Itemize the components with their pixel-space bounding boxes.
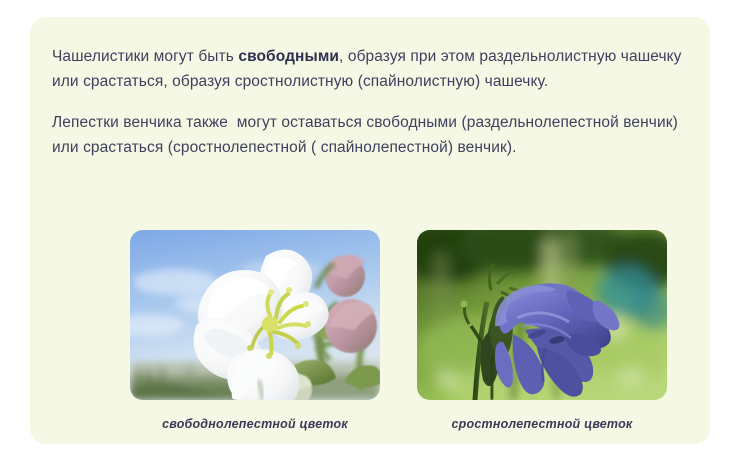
paragraph-petals: Лепестки венчика также могут оставаться …	[52, 110, 682, 160]
paragraph-sepals-text-before: Чашелистики могут быть	[52, 48, 238, 65]
figure-free-petal-flower: свободнолепестной цветок	[130, 230, 380, 431]
bellflower-photo	[417, 230, 667, 400]
apple-blossom-illustration	[130, 230, 380, 400]
figure-fused-petal-flower: сростнолепестной цветок	[417, 230, 667, 431]
bellflower-illustration	[417, 230, 667, 400]
figure-caption-free-petal: свободнолепестной цветок	[162, 417, 348, 431]
page-root: Чашелистики могут быть свободными, образ…	[0, 0, 740, 464]
paragraph-sepals-bold-term: свободными	[238, 48, 339, 65]
figure-row: свободнолепестной цветок	[130, 230, 667, 431]
content-card: Чашелистики могут быть свободными, образ…	[30, 17, 710, 444]
paragraph-sepals: Чашелистики могут быть свободными, образ…	[52, 44, 682, 94]
apple-blossom-photo	[130, 230, 380, 400]
figure-caption-fused-petal: сростнолепестной цветок	[452, 417, 633, 431]
